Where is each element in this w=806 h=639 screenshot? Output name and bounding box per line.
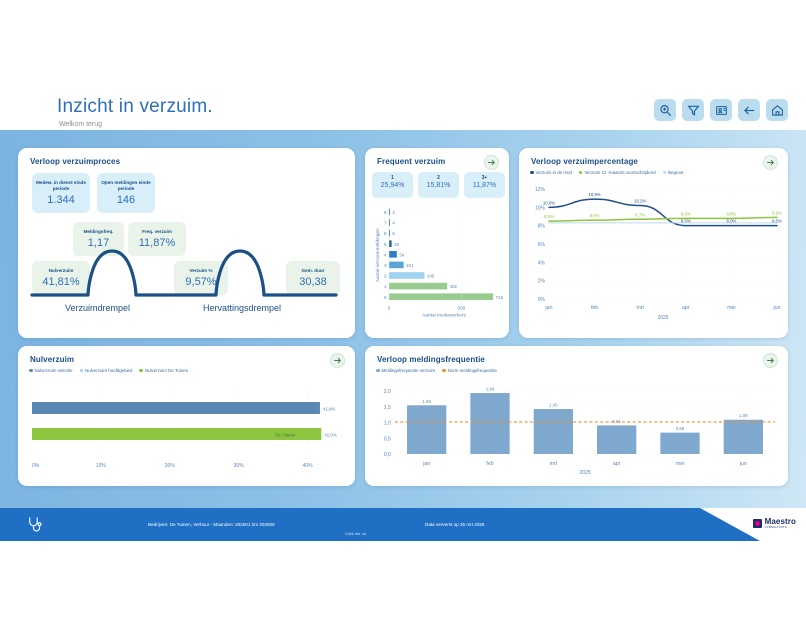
freq-tile-percent: 11,87% [464,182,505,189]
home-icon[interactable] [766,99,788,121]
kpi-label: Medew. in dienst einde periode [32,180,90,192]
svg-text:54: 54 [399,252,404,257]
panel-detail-arrow-icon[interactable] [763,353,778,368]
svg-text:De Tuinen: De Tuinen [275,432,296,437]
svg-text:12%: 12% [535,187,546,193]
svg-text:0: 0 [388,305,391,310]
maestro-logo: Maestro CONSULTANTS [753,518,796,529]
legend-item-voortschrijdend[interactable]: Verzuim 12 -maands voortschrijdend [579,170,656,175]
legend-dot-icon [29,369,33,373]
svg-text:30%: 30% [234,463,245,469]
maestro-tagline: CONSULTANTS [765,526,796,529]
svg-text:41,8%: 41,8% [323,406,336,411]
legend-label: Meldingsfrequentie verzuim [382,368,436,373]
legend-dot-icon [376,369,380,373]
svg-text:2: 2 [384,274,387,279]
page-subtitle: Welkom terug [59,121,102,128]
meldingsfrequentie-legend: Meldingsfrequentie verzuim Norm meldings… [376,368,497,373]
svg-text:jan: jan [422,461,430,467]
panel-title: Verloop verzuimproces [30,157,120,166]
svg-text:2025: 2025 [657,315,668,321]
svg-text:mrt: mrt [550,461,558,467]
svg-text:mei: mei [727,305,735,311]
footer-filters: Bedrijven: De Tuinen, Verhuur - Maanden:… [148,522,275,527]
panel-title: Verloop meldingsfrequentie [377,355,485,364]
svg-text:10,9%: 10,9% [589,192,601,197]
svg-text:1,43: 1,43 [549,403,558,408]
svg-text:2%: 2% [538,279,546,285]
svg-text:0,5: 0,5 [384,436,391,442]
panel-title: Nulverzuim [30,355,74,364]
freq-tile-percent: 25,94% [372,182,413,189]
freq-tile-count: 3+ [464,175,505,181]
panel-title: Frequent verzuim [377,157,445,166]
legend-item-de-tuinen[interactable]: Nulverzuim De Tuinen [139,368,188,373]
svg-text:feb: feb [486,461,493,467]
maestro-name: Maestro [765,518,796,526]
panel-detail-arrow-icon[interactable] [330,353,345,368]
toolbar [654,99,788,121]
legend-label: Begroot [668,170,683,175]
frequent-verzuim-tiles: 1 25,94% 2 15,81% 3+ 11,87% [372,172,505,198]
kpi-value: 146 [97,194,155,206]
svg-text:18: 18 [394,242,399,247]
svg-text:apr: apr [682,305,690,311]
legend-item-selectie[interactable]: Nulverzuim selectie [29,368,73,373]
svg-text:8%: 8% [538,224,546,230]
svg-text:4%: 4% [538,260,546,266]
svg-text:8,5%: 8,5% [544,214,554,219]
legend-item-verzuim-mnd[interactable]: Verzuim in de mnd [530,170,572,175]
legend-label: Nulverzuim selectie [35,368,73,373]
back-arrow-icon[interactable] [738,99,760,121]
svg-text:20%: 20% [165,463,176,469]
nulverzuim-bar-chart[interactable]: 0%10%20%30%40%41,8%De Tuinen42,0% [24,378,350,480]
maestro-mark-icon [753,519,762,528]
legend-dot-icon [442,369,446,373]
svg-text:40%: 40% [303,463,314,469]
svg-text:10%: 10% [96,463,107,469]
kpi-label: Freq. verzuim [128,229,186,235]
filter-icon[interactable] [682,99,704,121]
svg-text:42,0%: 42,0% [324,432,337,437]
panel-detail-arrow-icon[interactable] [484,155,499,170]
svg-text:1,5: 1,5 [384,405,391,411]
freq-tile-3plus[interactable]: 3+ 11,87% [464,172,505,198]
svg-text:10%: 10% [535,205,546,211]
svg-text:2: 2 [392,210,395,215]
svg-text:8,8%: 8,8% [727,211,737,216]
panel-frequent-verzuim: Frequent verzuim 1 25,94% 2 15,81% 3+ 11… [365,148,509,338]
freq-tile-count: 2 [418,175,459,181]
legend-label: Nulverzuim hoofdgebied [85,368,132,373]
footer-refresh-date: Data ververst op 25 mrt 2026 [425,522,485,527]
svg-text:719: 719 [496,295,503,300]
kpi-label: Meldingsfreq. [73,229,124,235]
legend-dot-icon [663,171,667,175]
svg-text:1: 1 [384,284,387,289]
legend-dot-icon [80,369,84,373]
svg-text:3: 3 [384,263,387,268]
svg-text:Aantal medewerkers: Aantal medewerkers [422,312,466,318]
panel-verzuimpercentage: Verloop verzuimpercentage Verzuim in de … [519,148,788,338]
dashboard-root: Inzicht in verzuim. Welkom terug [0,0,806,639]
svg-text:Aantal verzuimmeldingen: Aantal verzuimmeldingen [375,228,381,282]
svg-text:8,8%: 8,8% [681,211,691,216]
svg-text:1,0: 1,0 [384,421,391,427]
freq-tile-percent: 15,81% [418,182,459,189]
search-zoom-icon[interactable] [654,99,676,121]
svg-text:2,0: 2,0 [384,389,391,395]
label-verzuimdrempel: Verzuimdrempel [65,303,130,313]
legend-dot-icon [579,171,583,175]
nulverzuim-legend: Nulverzuim selectie Nulverzuim hoofdgebi… [29,368,188,373]
panel-meldingsfrequentie: Verloop meldingsfrequentie Meldingsfrequ… [365,346,788,486]
svg-text:0%: 0% [538,297,546,303]
legend-dot-icon [530,171,534,175]
panel-verzuimproces: Verloop verzuimproces Medew. in dienst e… [18,148,355,338]
kpi-value: 1.344 [32,194,90,206]
footer-background [0,508,806,541]
svg-text:0,68: 0,68 [676,426,685,431]
svg-text:4: 4 [384,252,387,257]
verzuimproces-curve-graphic [30,243,340,303]
svg-text:5: 5 [384,242,387,247]
svg-text:10,0%: 10,0% [543,200,555,205]
svg-text:apr: apr [613,461,621,467]
panel-detail-arrow-icon[interactable] [763,155,778,170]
svg-text:101: 101 [406,263,414,268]
svg-text:jun: jun [773,305,781,311]
panel-title: Verloop verzuimpercentage [531,157,638,166]
svg-text:feb: feb [591,305,598,311]
freq-tile-2[interactable]: 2 15,81% [418,172,459,198]
page-footer: Bedrijven: De Tuinen, Verhuur - Maanden:… [0,508,806,541]
stethoscope-icon [26,516,44,534]
dashboard-stage: Verloop verzuimproces Medew. in dienst e… [0,130,806,508]
report-icon[interactable] [710,99,732,121]
kpi-open-meldingen[interactable]: Open meldingen einde periode 146 [97,173,155,213]
legend-item-norm[interactable]: Norm meldingsfrequentie [442,368,497,373]
svg-text:jan: jan [545,305,553,311]
svg-text:0,0: 0,0 [384,452,391,458]
verzuimpercentage-line-chart[interactable]: 0%2%4%6%8%10%12%janfebmrtaprmeijun202510… [525,181,783,331]
meldingsfrequentie-bar-chart[interactable]: 0,00,51,01,52,01,55jan1,94feb1,43mrt0,91… [371,378,783,480]
svg-text:2025: 2025 [579,470,590,476]
legend-item-begroot[interactable]: Begroot [663,170,684,175]
svg-text:jun: jun [739,461,747,467]
legend-item-meldingsfrequentie[interactable]: Meldingsfrequentie verzuim [376,368,435,373]
legend-label: Verzuim in de mnd [536,170,572,175]
svg-text:6%: 6% [538,242,546,248]
freq-tile-1[interactable]: 1 25,94% [372,172,413,198]
frequent-verzuim-chart[interactable]: 82746551845431012245140207190500Aantal m… [373,205,503,330]
label-hervattingsdrempel: Hervattingsdrempel [203,303,281,313]
kpi-label: Open meldingen einde periode [97,180,155,192]
legend-label: Norm meldingsfrequentie [448,368,497,373]
svg-text:7: 7 [384,221,387,226]
svg-text:1,55: 1,55 [422,399,431,404]
svg-text:8,9%: 8,9% [772,210,782,215]
verzuimpercentage-legend: Verzuim in de mnd Verzuim 12 -maands voo… [530,170,684,175]
svg-text:1,09: 1,09 [739,413,748,418]
svg-text:0: 0 [384,295,387,300]
page-header: Inzicht in verzuim. Welkom terug [0,0,806,130]
freq-tile-count: 1 [372,175,413,181]
kpi-medewerkers-in-dienst[interactable]: Medew. in dienst einde periode 1.344 [32,173,90,213]
legend-label: Verzuim 12 -maands voortschrijdend [584,170,655,175]
svg-text:0%: 0% [32,463,40,469]
svg-text:4: 4 [392,221,395,226]
footer-hint: Click me ua [345,531,366,536]
svg-text:5: 5 [392,231,395,236]
svg-text:8: 8 [384,210,387,215]
panel-nulverzuim: Nulverzuim Nulverzuim selectie Nulverzui… [18,346,355,486]
svg-text:8,6%: 8,6% [590,213,600,218]
page-title: Inzicht in verzuim. [57,96,213,118]
svg-text:1,94: 1,94 [486,387,495,392]
svg-text:6: 6 [384,231,387,236]
legend-item-hoofdgebied[interactable]: Nulverzuim hoofdgebied [80,368,133,373]
svg-text:10,2%: 10,2% [634,199,646,204]
svg-text:500: 500 [458,305,466,310]
svg-text:402: 402 [450,284,458,289]
svg-text:8,7%: 8,7% [635,212,645,217]
svg-text:245: 245 [427,274,435,279]
legend-dot-icon [139,369,143,373]
svg-text:mrt: mrt [636,305,644,311]
legend-label: Nulverzuim De Tuinen [145,368,188,373]
svg-text:mei: mei [676,461,684,467]
